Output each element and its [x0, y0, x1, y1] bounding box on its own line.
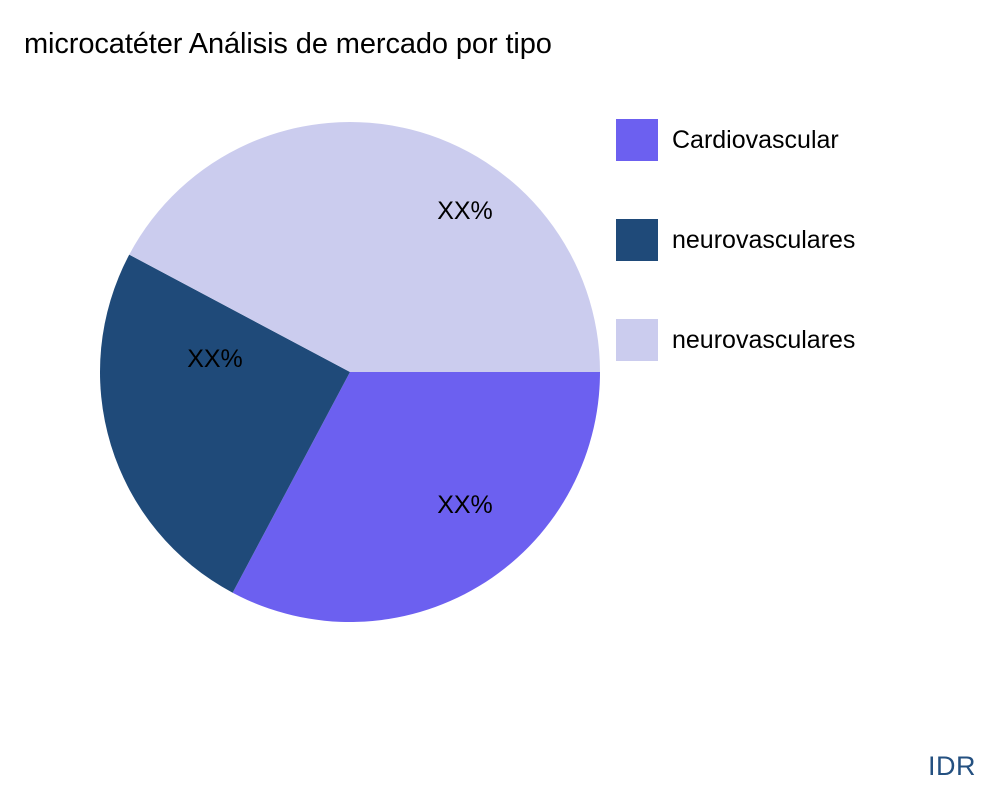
pie-slice-group	[100, 122, 600, 622]
pie-slice-label: XX%	[187, 345, 243, 373]
chart-legend: Cardiovascular neurovasculares neurovasc…	[616, 119, 976, 419]
pie-slice-label: XX%	[437, 197, 493, 225]
legend-item-neurovasculares-dark[interactable]: neurovasculares	[616, 219, 976, 261]
legend-item-cardiovascular[interactable]: Cardiovascular	[616, 119, 976, 161]
legend-swatch-icon	[616, 119, 658, 161]
legend-item-neurovasculares-light[interactable]: neurovasculares	[616, 319, 976, 361]
legend-item-label: Cardiovascular	[672, 128, 839, 153]
legend-swatch-icon	[616, 319, 658, 361]
pie-chart-svg: XX%XX%XX%	[0, 0, 700, 700]
legend-swatch-icon	[616, 219, 658, 261]
pie-chart: XX%XX%XX%	[0, 0, 700, 700]
legend-item-label: neurovasculares	[672, 328, 855, 353]
legend-item-label: neurovasculares	[672, 228, 855, 253]
pie-slice-label: XX%	[437, 491, 493, 519]
watermark-logo: IDR	[928, 751, 976, 782]
